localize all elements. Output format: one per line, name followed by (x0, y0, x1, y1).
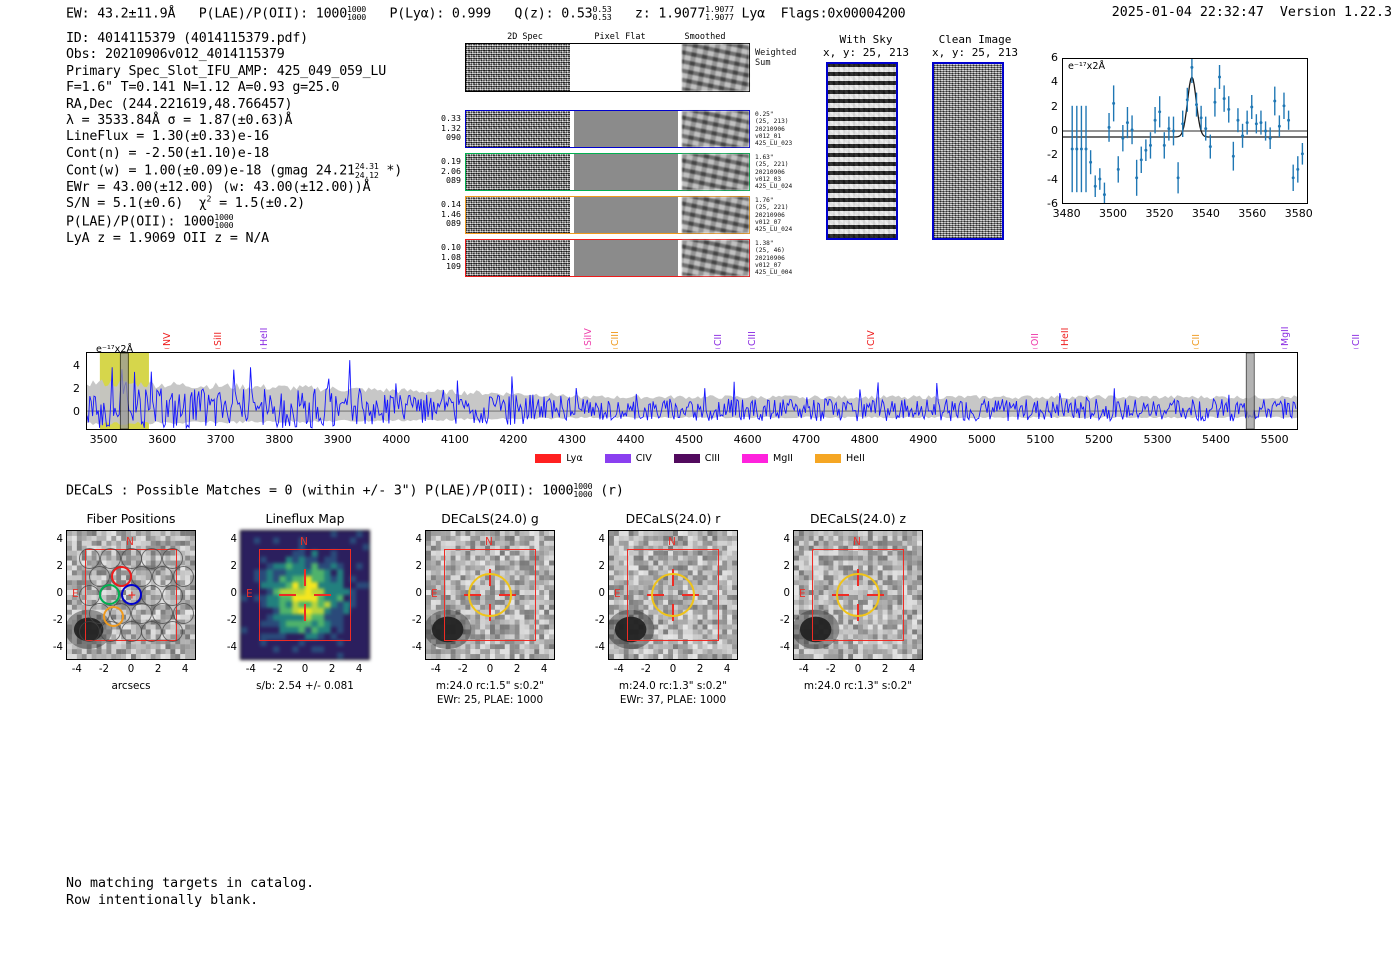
panel-y-tick: 4 (46, 534, 63, 545)
error-band (87, 379, 1297, 425)
fiber-smoothed-image (682, 111, 749, 147)
header-ew: EW: 43.2±11.9Å (66, 6, 175, 21)
data-point (1301, 152, 1304, 155)
emission-line-label: SiII (213, 306, 224, 346)
fiber-circle (173, 603, 194, 624)
zoom-x-tick: 3480 (1048, 207, 1086, 220)
spec2d-weighted-sum-strip (465, 43, 750, 92)
fiber-left-label: 089 (425, 219, 461, 229)
legend-label: CIV (636, 453, 652, 464)
clean-image-title: Clean Imagex, y: 25, 213 (920, 33, 1030, 59)
crosshair-horizontal-right (314, 594, 331, 596)
zoom-y-tick: 0 (1040, 124, 1058, 137)
info-ewr: EWr = 43.00(±12.00) (w: 43.00(±12.00))Å (66, 180, 402, 196)
data-point (1190, 66, 1193, 69)
panel-y-tick: -4 (773, 642, 790, 653)
info-chi2: χ2 = 1.5(±0.2) (199, 196, 305, 211)
main-x-tick: 3500 (82, 433, 126, 446)
panel-y-tick: 2 (588, 561, 605, 572)
panel-y-tick: -2 (588, 615, 605, 626)
data-point (1223, 97, 1226, 100)
fiber-right-label: 20210906 (755, 255, 792, 262)
zoomed-spectrum-chart: e⁻¹⁷x2Å -6-4-20246 348035003520354035603… (1040, 58, 1308, 230)
fiber-right-label: 1.76" (755, 197, 792, 204)
info-radec: RA,Dec (244.221619,48.766457) (66, 97, 402, 113)
fiber-right-label: 0.25" (755, 111, 792, 118)
data-point (1149, 144, 1152, 147)
panel-x-tick: 0 (294, 664, 316, 675)
info-sn-chi2: S/N = 5.1(±0.6) χ2 = 1.5(±0.2) (66, 196, 402, 212)
data-point (1255, 122, 1258, 125)
zoom-y-tick: 2 (1040, 100, 1058, 113)
fiber-circle (162, 585, 183, 606)
data-point (1177, 176, 1180, 179)
info-cont-w-post: *) (386, 164, 402, 179)
panel-y-tick: 0 (773, 588, 790, 599)
data-point (1292, 176, 1295, 179)
weighted-sum-label: Weighted Sum (755, 48, 796, 68)
data-point (1154, 119, 1157, 122)
emission-line-label: CII (1351, 306, 1362, 346)
panel-y-tick: -2 (405, 615, 422, 626)
zoom-y-tick: -2 (1040, 148, 1058, 161)
header-z-lo: 1.9077 (705, 13, 734, 21)
header-timestamp-block: 2025-01-04 22:32:47 Version 1.22.3 (1112, 5, 1392, 20)
fiber-2dspec-image (466, 197, 570, 233)
panel-y-tick: 2 (220, 561, 237, 572)
panel-x-tick: 4 (533, 664, 555, 675)
panel-y-tick: 2 (773, 561, 790, 572)
panel-y-tick: 4 (588, 534, 605, 545)
emission-line-label: CIII (747, 306, 758, 346)
data-point (1287, 119, 1290, 122)
data-point (1269, 137, 1272, 140)
data-point (1080, 148, 1083, 151)
footer-line-2: Row intentionally blank. (66, 892, 314, 909)
panel-x-tick: -4 (608, 664, 630, 675)
main-x-tick: 4400 (609, 433, 653, 446)
data-point (1172, 130, 1175, 133)
main-x-tick: 5500 (1253, 433, 1297, 446)
fiber-right-labels: 1.63"(25, 221)20210906v012_03425_LU_024 (755, 154, 792, 190)
fiber-circle (141, 585, 162, 606)
panel-caption: EWr: 25, PLAE: 1000 (399, 694, 581, 707)
data-point (1135, 176, 1138, 179)
fiber-right-label: (25, 46) (755, 247, 792, 254)
fiber-right-label: (25, 221) (755, 161, 792, 168)
weighted-pixelflat-image (574, 44, 678, 91)
fiber-right-labels: 0.25"(25, 213)20210906v012_01425_LU_023 (755, 111, 792, 147)
panel-caption: s/b: 2.54 +/- 0.081 (214, 680, 396, 693)
zoom-spectrum-svg (1063, 59, 1307, 203)
info-redshifts: LyA z = 1.9069 OII z = N/A (66, 231, 402, 247)
main-x-tick: 4500 (667, 433, 711, 446)
fiber-pixelflat-image (574, 240, 678, 276)
panel-title: Fiber Positions (48, 511, 214, 526)
compass-north-label: N (126, 536, 134, 548)
info-cont-w-pre: Cont(w) = 1.00(±0.09)e-18 (gmag 24.21 (66, 164, 355, 179)
panel-x-tick: 0 (120, 664, 142, 675)
header-plae-value: 1000 (316, 6, 347, 21)
fiber-right-label: v012_01 (755, 133, 792, 140)
data-point (1204, 127, 1207, 130)
panel-title: DECaLS(24.0) g (407, 511, 573, 526)
main-spectrum-block: NV⌣SiII⌣HeII⌣SiIV⌣CIII⌣CII⌣CIII⌣CIV⌣OII⌣… (0, 300, 1400, 470)
header-z: z: 1.9077 (635, 6, 705, 21)
panel-y-tick: -4 (46, 642, 63, 653)
main-x-tick: 3600 (140, 433, 184, 446)
header-plya: P(Lyα): 0.999 (389, 6, 490, 21)
header-z-line: Lyα (742, 6, 765, 21)
fiber-2dspec-image (466, 240, 570, 276)
crosshair-vertical-bottom (304, 604, 306, 621)
zoom-x-tick: 3560 (1233, 207, 1271, 220)
fiber-right-label: v012_07 (755, 219, 792, 226)
wavelength-marker (120, 353, 128, 429)
data-point (1117, 168, 1120, 171)
spec2d-fiber-strip (465, 110, 750, 148)
spec2d-title-pixelflat: Pixel Flat (575, 32, 665, 42)
highlighted-fiber-circle (103, 606, 124, 627)
main-units-label: e⁻¹⁷x2Å (96, 344, 133, 355)
main-x-tick: 5400 (1194, 433, 1238, 446)
panel-x-tick: -4 (240, 664, 262, 675)
compass-north-label: N (300, 536, 308, 548)
panel-x-tick: 2 (147, 664, 169, 675)
decals-summary-value: 1000 (542, 483, 573, 498)
data-point (1071, 148, 1074, 151)
legend-item: Lyα (535, 453, 582, 465)
emission-line-label: SiIV (583, 306, 594, 346)
main-x-tick: 3800 (257, 433, 301, 446)
panel-x-tick: 4 (174, 664, 196, 675)
data-point (1098, 178, 1101, 181)
fiber-right-label: v012_07 (755, 262, 792, 269)
fiber-smoothed-image (682, 154, 749, 190)
main-x-tick: 4300 (550, 433, 594, 446)
main-x-tick: 5200 (1077, 433, 1121, 446)
legend-swatch (815, 454, 841, 463)
fiber-right-label: 1.38" (755, 240, 792, 247)
data-point (1250, 106, 1253, 109)
footer-note: No matching targets in catalog. Row inte… (66, 875, 314, 909)
data-point (1089, 161, 1092, 164)
main-x-tick: 5000 (960, 433, 1004, 446)
panel-y-tick: -4 (405, 642, 422, 653)
fiber-circle (121, 621, 142, 642)
panel-y-tick: -2 (220, 615, 237, 626)
main-plot-area (86, 352, 1298, 430)
crosshair-horizontal-left (279, 594, 296, 596)
legend-label: MgII (773, 453, 793, 464)
info-id: ID: 4014115379 (4014115379.pdf) (66, 31, 402, 47)
data-point (1218, 76, 1221, 79)
fiber-left-labels: 0.141.46089 (425, 200, 461, 229)
decals-summary-pre: DECaLS : Possible Matches = 0 (within +/… (66, 483, 534, 498)
panel-title: DECaLS(24.0) z (775, 511, 941, 526)
info-obs: Obs: 20210906v012_4014115379 (66, 47, 402, 63)
data-point (1131, 128, 1134, 131)
main-x-tick: 3900 (316, 433, 360, 446)
panel-xlabel: arcsecs (66, 680, 196, 693)
zoom-x-tick: 3500 (1094, 207, 1132, 220)
panel-x-tick: -2 (635, 664, 657, 675)
panel-caption: EWr: 37, PLAE: 1000 (582, 694, 764, 707)
info-plae: P(LAE)/P(OII): 100010001000 (66, 213, 402, 231)
data-point (1094, 185, 1097, 188)
spec2d-title-smoothed: Smoothed (660, 32, 750, 42)
fiber-smoothed-image (682, 197, 749, 233)
legend-item: HeII (815, 453, 865, 465)
data-point (1144, 149, 1147, 152)
data-point (1181, 122, 1184, 125)
panel-y-tick: -4 (588, 642, 605, 653)
data-point (1195, 103, 1198, 106)
main-spectrum-svg (87, 353, 1297, 429)
fiber-right-label: 425_LU_024 (755, 183, 792, 190)
emission-line-label: HeII (259, 306, 270, 346)
fiber-left-label: 089 (425, 176, 461, 186)
data-point (1278, 125, 1281, 128)
fiber-left-label: 109 (425, 262, 461, 272)
legend-swatch (742, 454, 768, 463)
panel-title: Lineflux Map (222, 511, 388, 526)
with-sky-image (826, 62, 898, 240)
data-point (1259, 121, 1262, 124)
fiber-circle (79, 548, 100, 569)
main-x-tick: 4700 (784, 433, 828, 446)
zoom-x-tick: 3580 (1280, 207, 1318, 220)
emission-line-label: MgII (1280, 306, 1291, 346)
main-x-tick: 5100 (1018, 433, 1062, 446)
data-point (1282, 104, 1285, 107)
fiber-right-labels: 1.76"(25, 221)20210906v012_07425_LU_024 (755, 197, 792, 233)
panel-x-tick: -4 (425, 664, 447, 675)
panel-x-tick: -2 (93, 664, 115, 675)
main-x-tick: 4600 (726, 433, 770, 446)
data-point (1121, 137, 1124, 140)
emission-line-label: CIII (610, 306, 621, 346)
panel-y-tick: 4 (405, 534, 422, 545)
main-y-tick: 2 (62, 382, 80, 395)
data-point (1103, 193, 1106, 196)
fiber-circle (152, 603, 173, 624)
fiber-right-label: 20210906 (755, 169, 792, 176)
fiber-circle (79, 585, 100, 606)
spec2d-fiber-strip (465, 239, 750, 277)
zoom-y-tick: 6 (1040, 51, 1058, 64)
info-plae-lo: 1000 (214, 221, 233, 229)
info-primary-spec: Primary Spec_Slot_IFU_AMP: 425_049_059_L… (66, 64, 402, 80)
panel-y-tick: 4 (773, 534, 790, 545)
panel-y-tick: 0 (46, 588, 63, 599)
data-point (1296, 168, 1299, 171)
panel-caption: m:24.0 rc:1.3" s:0.2" (582, 680, 764, 693)
main-x-tick: 4900 (901, 433, 945, 446)
clean-image (932, 62, 1004, 240)
detection-info-block: ID: 4014115379 (4014115379.pdf) Obs: 202… (66, 31, 402, 247)
data-point (1126, 121, 1129, 124)
panel-y-tick: 0 (405, 588, 422, 599)
spec2d-fiber-strip (465, 153, 750, 191)
info-plae-label: P(LAE)/P(OII): (66, 214, 175, 229)
legend-label: Lyα (566, 453, 582, 464)
fiber-2dspec-image (466, 111, 570, 147)
info-cont-w: Cont(w) = 1.00(±0.09)e-18 (gmag 24.2124.… (66, 162, 402, 180)
weighted-smoothed-image (682, 44, 749, 91)
data-point (1213, 101, 1216, 104)
info-gmag-lo: 24.12 (355, 171, 379, 179)
panel-title: DECaLS(24.0) r (590, 511, 756, 526)
main-x-tick: 3700 (199, 433, 243, 446)
emission-line-label: OII (1030, 306, 1041, 346)
info-cont-n: Cont(n) = -2.50(±1.10)e-18 (66, 146, 402, 162)
crosshair-vertical-top (304, 569, 306, 586)
data-point (1236, 119, 1239, 122)
legend-item: CIII (674, 453, 720, 465)
with-sky-title: With Skyx, y: 25, 213 (818, 33, 914, 59)
panel-x-tick: 2 (321, 664, 343, 675)
legend-item: MgII (742, 453, 793, 465)
header-plae-label: P(LAE)/P(OII): (199, 6, 308, 21)
panel-x-tick: 4 (901, 664, 923, 675)
fiber-right-label: 425_LU_004 (755, 269, 792, 276)
main-x-tick: 5300 (1135, 433, 1179, 446)
data-point (1085, 148, 1088, 151)
timestamp: 2025-01-04 22:32:47 (1112, 5, 1264, 20)
compass-north-label: N (853, 536, 861, 548)
emission-line-label: CIV (866, 306, 877, 346)
panel-x-tick: -2 (820, 664, 842, 675)
data-point (1158, 110, 1161, 113)
fiber-pixelflat-image (574, 154, 678, 190)
spec2d-fiber-strip (465, 196, 750, 234)
panel-x-tick: 2 (874, 664, 896, 675)
panel-y-tick: -2 (46, 615, 63, 626)
data-point (1241, 134, 1244, 137)
fiber-pixelflat-image (574, 111, 678, 147)
info-seeing: F=1.6" T=0.141 N=1.12 A=0.93 g=25.0 (66, 80, 402, 96)
panel-y-tick: -4 (220, 642, 237, 653)
panel-x-tick: 2 (689, 664, 711, 675)
compass-east-label: E (431, 588, 438, 600)
main-y-tick: 4 (62, 359, 80, 372)
data-point (1232, 155, 1235, 158)
info-lineflux: LineFlux = 1.30(±0.33)e-16 (66, 129, 402, 145)
legend-label: HeII (846, 453, 865, 464)
main-x-tick: 4000 (374, 433, 418, 446)
decals-summary-post: (r) (600, 483, 623, 498)
legend-item: CIV (605, 453, 652, 465)
header-plae-lo: 1000 (347, 13, 366, 21)
fiber-pixelflat-image (574, 197, 678, 233)
panel-y-tick: 2 (46, 561, 63, 572)
panel-x-tick: 2 (506, 664, 528, 675)
panel-region-box (259, 549, 351, 641)
data-point (1163, 144, 1166, 147)
compass-east-label: E (799, 588, 806, 600)
header-flags: Flags:0x00004200 (781, 6, 906, 21)
panel-x-tick: -4 (793, 664, 815, 675)
zoom-units-label: e⁻¹⁷x2Å (1068, 61, 1105, 72)
emission-line-marker: ⌣ (1353, 344, 1359, 354)
compass-north-label: N (485, 536, 493, 548)
legend-swatch (674, 454, 700, 463)
data-point (1075, 148, 1078, 151)
zoom-y-tick: 4 (1040, 75, 1058, 88)
emission-line-label: CII (713, 306, 724, 346)
fiber-right-label: 20210906 (755, 126, 792, 133)
highlighted-fiber-circle (121, 584, 142, 605)
fiber-smoothed-image (682, 240, 749, 276)
panel-x-tick: -2 (267, 664, 289, 675)
aperture-circle (836, 573, 880, 617)
panel-y-tick: -2 (773, 615, 790, 626)
fiber-left-labels: 0.192.06089 (425, 157, 461, 186)
legend-label: CIII (705, 453, 720, 464)
panel-x-tick: 4 (348, 664, 370, 675)
highlighted-fiber-circle (99, 584, 120, 605)
fiber-circle (79, 621, 100, 642)
header-qz-lo: 0.53 (592, 13, 611, 21)
aperture-circle (468, 573, 512, 617)
header-summary: EW: 43.2±11.9Å P(LAE)/P(OII): 1000100010… (66, 5, 905, 22)
data-point (1273, 100, 1276, 103)
fiber-right-label: (25, 213) (755, 118, 792, 125)
zoom-y-tick: -4 (1040, 173, 1058, 186)
data-point (1227, 108, 1230, 111)
wavelength-marker (1246, 353, 1254, 429)
data-point (1140, 158, 1143, 161)
panel-y-tick: 0 (588, 588, 605, 599)
main-x-tick: 4100 (433, 433, 477, 446)
main-x-tick: 4800 (843, 433, 887, 446)
data-point (1108, 126, 1111, 129)
zoom-x-tick: 3520 (1140, 207, 1178, 220)
fiber-circle (131, 603, 152, 624)
panel-x-tick: -2 (452, 664, 474, 675)
weighted-2dspec-image (466, 44, 570, 91)
emission-line-label: CII (1191, 306, 1202, 346)
fiber-right-label: 425_LU_023 (755, 140, 792, 147)
header-qz: Q(z): 0.53 (514, 6, 592, 21)
main-spectrum-legend: LyαCIVCIIIMgIIHeII (0, 448, 1400, 467)
zoom-plot-area (1062, 58, 1308, 204)
panel-x-tick: 0 (479, 664, 501, 675)
decals-summary: DECaLS : Possible Matches = 0 (within +/… (66, 482, 624, 499)
fiber-left-label: 090 (425, 133, 461, 143)
emission-line-label: NV (162, 306, 173, 346)
fiber-left-labels: 0.101.08109 (425, 243, 461, 272)
panel-caption: m:24.0 rc:1.5" s:0.2" (399, 680, 581, 693)
version: Version 1.22.3 (1280, 5, 1392, 20)
panel-x-tick: 4 (716, 664, 738, 675)
panel-x-tick: -4 (66, 664, 88, 675)
panel-caption: m:24.0 rc:1.3" s:0.2" (767, 680, 949, 693)
decals-summary-lo: 1000 (573, 490, 592, 498)
panel-y-tick: 0 (220, 588, 237, 599)
spec2d-title-2dspec: 2D Spec (465, 32, 585, 42)
info-sn: S/N = 5.1(±0.6) (66, 196, 183, 211)
compass-east-label: E (614, 588, 621, 600)
data-point (1209, 145, 1212, 148)
fiber-right-label: v012_03 (755, 176, 792, 183)
fiber-right-label: (25, 221) (755, 204, 792, 211)
fiber-right-label: 1.63" (755, 154, 792, 161)
info-plae-value: 1000 (183, 214, 214, 229)
fiber-right-label: 425_LU_024 (755, 226, 792, 233)
compass-east-label: E (72, 588, 79, 600)
